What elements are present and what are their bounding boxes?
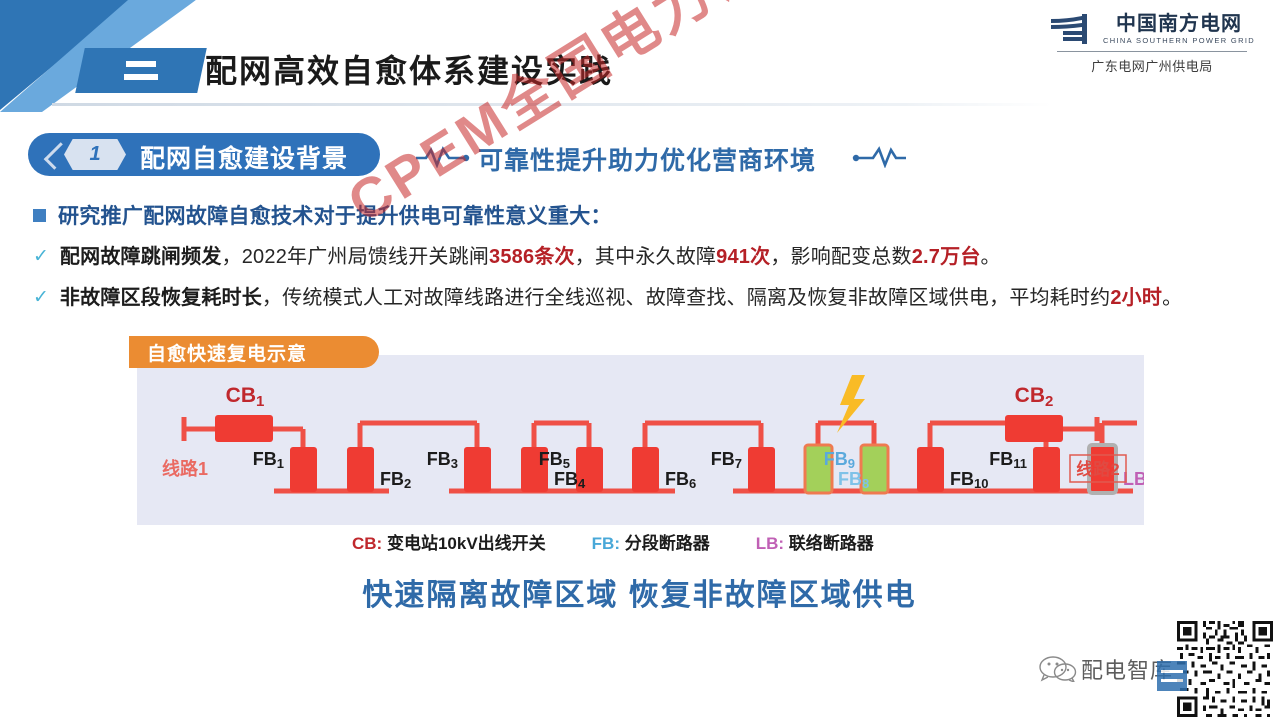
label-FB2: FB2 — [380, 469, 411, 491]
wechat-brand-badge — [1157, 661, 1187, 691]
square-bullet-icon — [33, 209, 46, 222]
legend-key-lb: LB: — [756, 534, 784, 553]
page-title: 配网高效自愈体系建设实践 — [205, 46, 613, 92]
row1-lead: 配网故障跳闸频发 — [60, 246, 222, 268]
row2-t1: ，传统模式人工对故障线路进行全线巡视、故障查找、隔离及恢复非故障区域供电，平均耗… — [262, 287, 1110, 309]
bullet-row-2: ✓ 非故障区段恢复耗时长，传统模式人工对故障线路进行全线巡视、故障查找、隔离及恢… — [33, 281, 1182, 310]
label-FB3: FB3 — [427, 449, 458, 471]
breaker-FB1[interactable] — [290, 447, 317, 492]
breaker-FB2[interactable] — [347, 447, 374, 492]
bullet-heading-text: 研究推广配网故障自愈技术对于提升供电可靠性意义重大： — [58, 200, 612, 230]
row2-t2: 。 — [1162, 287, 1182, 309]
wechat-icon — [1039, 656, 1077, 682]
section-label: 配网自愈建设背景 — [140, 139, 348, 175]
footer-wechat-block: 配电智库 — [1039, 621, 1273, 717]
bullet-heading: 研究推广配网故障自愈技术对于提升供电可靠性意义重大： — [33, 200, 612, 230]
bullet-row-1-text: 配网故障跳闸频发，2022年广州局馈线开关跳闸3586条次，其中永久故障941次… — [60, 240, 1001, 269]
breaker-FB10[interactable] — [917, 447, 944, 492]
label-line-right: 线路2 — [1076, 459, 1119, 479]
row1-t4: 。 — [981, 246, 1001, 268]
check-icon: ✓ — [33, 245, 49, 268]
legend-key-fb: FB: — [592, 534, 620, 553]
legend-item-fb: FB: 分段断路器 — [592, 529, 710, 554]
label-FB7: FB7 — [711, 449, 742, 471]
section-bar: 1 配网自愈建设背景 — [28, 133, 380, 176]
slide-root: 配网高效自愈体系建设实践 中国南方电网 CHINA SOUTHERN POWER… — [0, 0, 1279, 721]
self-healing-feeder-diagram: CB1 CB2 FB1 FB2 FB3 FB4 FB5 FB6 FB7 FB8 … — [137, 355, 1144, 525]
legend-item-lb: LB: 联络断路器 — [756, 529, 874, 554]
brand-logo: 中国南方电网 CHINA SOUTHERN POWER GRID 广东电网广州供… — [1043, 12, 1261, 75]
brand-divider — [1057, 51, 1247, 52]
pulse-line-icon-right — [852, 146, 907, 168]
row1-hl3: 2.7万台 — [912, 246, 981, 268]
number-two-glyph — [80, 48, 202, 93]
legend-text-lb: 联络断路器 — [789, 534, 874, 553]
label-FB10: FB10 — [950, 469, 988, 491]
diagram-legend: CB: 变电站10kV出线开关 FB: 分段断路器 LB: 联络断路器 — [352, 529, 874, 554]
label-CB2: CB2 — [1015, 384, 1054, 410]
row1-t3: ，影响配变总数 — [770, 246, 911, 268]
row1-hl2: 941次 — [716, 246, 770, 268]
bullet-row-2-text: 非故障区段恢复耗时长，传统模式人工对故障线路进行全线巡视、故障查找、隔离及恢复非… — [60, 281, 1182, 310]
breaker-CB2[interactable] — [1005, 415, 1063, 442]
section-number-hex: 1 — [64, 139, 126, 170]
qr-code[interactable] — [1177, 621, 1273, 717]
section-tagline: 可靠性提升助力优化营商环境 — [478, 141, 816, 177]
breaker-FB6[interactable] — [632, 447, 659, 492]
label-FB5: FB5 — [539, 449, 570, 471]
label-FB6: FB6 — [665, 469, 696, 491]
label-FB1: FB1 — [253, 449, 284, 471]
breaker-FB7[interactable] — [748, 447, 775, 492]
section-number-chip — [75, 48, 207, 93]
label-line-left: 线路1 — [162, 458, 208, 479]
brand-subtitle: 广东电网广州供电局 — [1043, 56, 1261, 75]
brand-name-en: CHINA SOUTHERN POWER GRID — [1103, 36, 1255, 45]
row1-t2: ，其中永久故障 — [575, 246, 716, 268]
southern-power-grid-mark — [1049, 12, 1095, 46]
label-CB1: CB1 — [226, 384, 265, 410]
title-divider — [52, 103, 1052, 106]
row1-t1: ，2022年广州局馈线开关跳闸 — [222, 246, 490, 268]
label-FB11: FB11 — [989, 449, 1027, 471]
legend-key-cb: CB: — [352, 534, 382, 553]
brand-name-cn: 中国南方电网 — [1103, 14, 1255, 35]
label-FB9: FB9 — [824, 449, 855, 471]
legend-item-cb: CB: 变电站10kV出线开关 — [352, 529, 546, 554]
pulse-line-icon-left — [415, 146, 470, 168]
row2-lead: 非故障区段恢复耗时长 — [60, 287, 262, 309]
check-icon: ✓ — [33, 286, 49, 309]
breaker-FB3[interactable] — [464, 447, 491, 492]
breaker-FB11[interactable] — [1033, 447, 1060, 492]
bullet-row-1: ✓ 配网故障跳闸频发，2022年广州局馈线开关跳闸3586条次，其中永久故障94… — [33, 240, 1001, 269]
conclusion-text: 快速隔离故障区域 恢复非故障区域供电 — [0, 570, 1279, 614]
row1-hl1: 3586条次 — [489, 246, 575, 268]
section-number: 1 — [89, 143, 100, 166]
row2-hl1: 2小时 — [1110, 287, 1162, 309]
legend-text-fb: 分段断路器 — [625, 534, 710, 553]
legend-text-cb: 变电站10kV出线开关 — [387, 534, 546, 553]
breaker-CB1[interactable] — [215, 415, 273, 442]
